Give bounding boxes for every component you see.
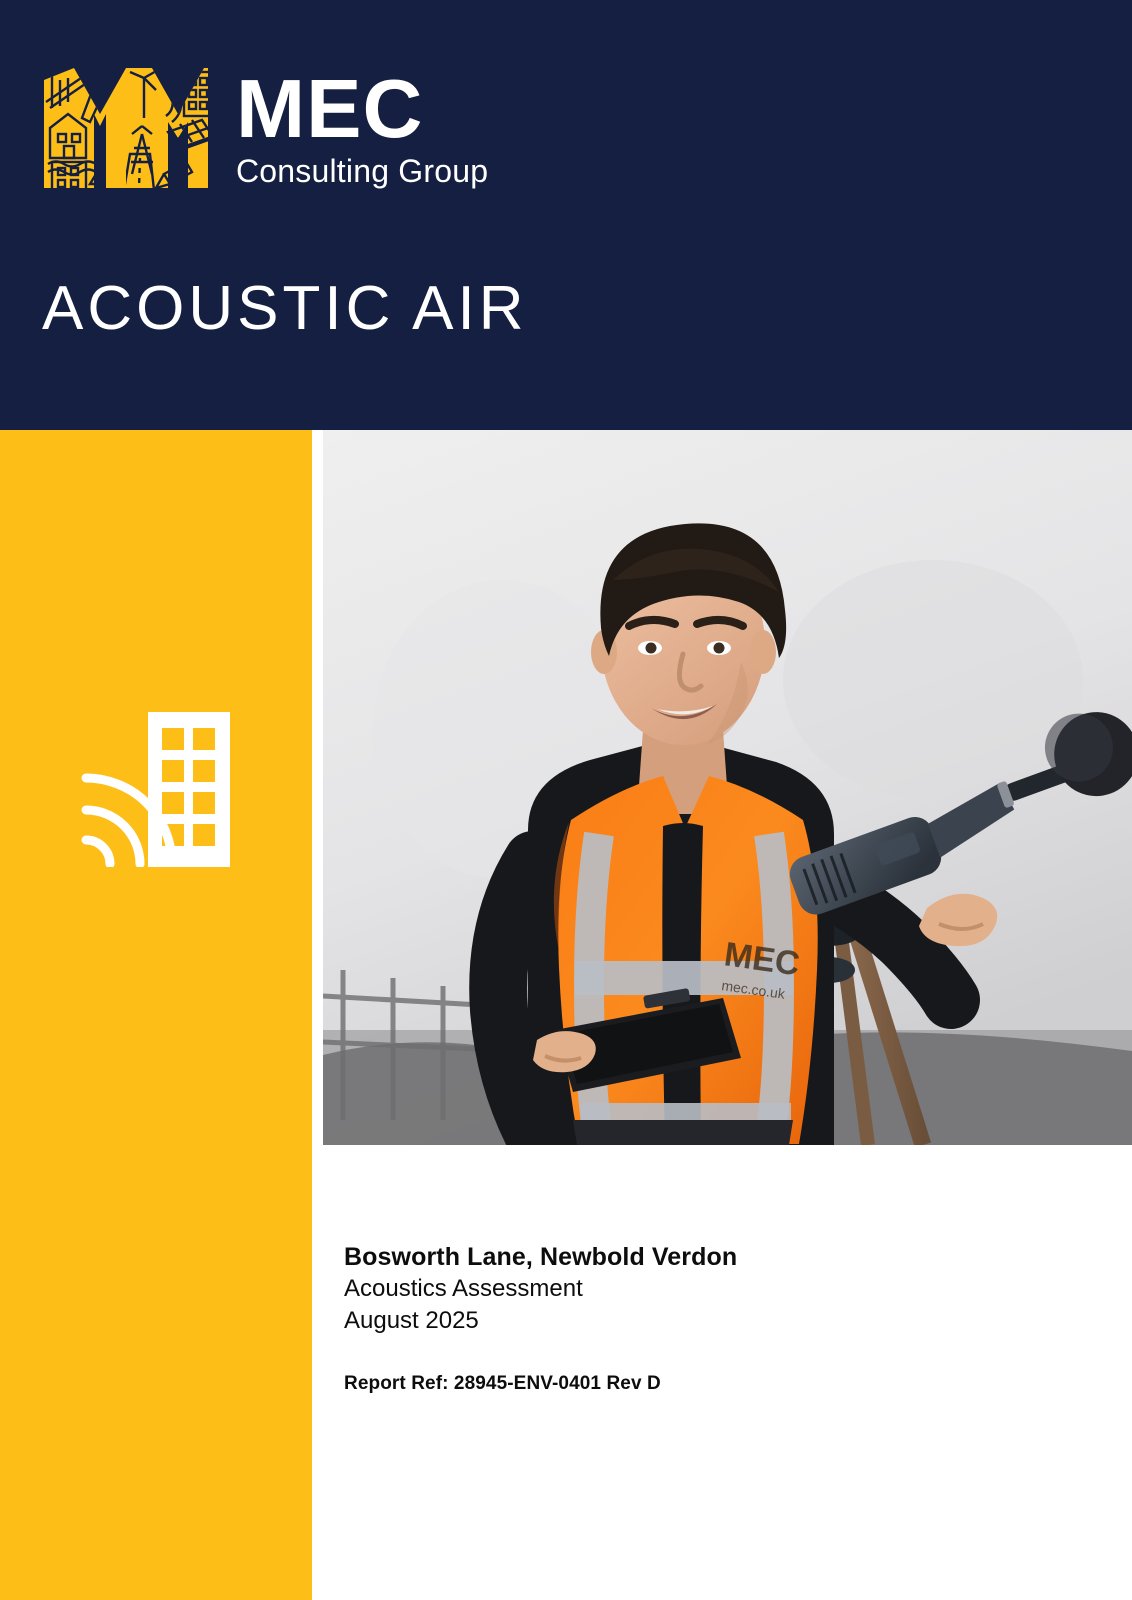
report-cover-page: MEC Consulting Group ACOUSTIC AIR: [0, 0, 1132, 1600]
cover-photograph: MEC mec.co.uk: [323, 430, 1132, 1145]
building-acoustic-waves-icon: [72, 702, 242, 867]
document-date: August 2025: [344, 1305, 1084, 1337]
document-subtitle: Acoustics Assessment: [344, 1273, 1084, 1305]
brand-lockup: MEC Consulting Group: [38, 62, 488, 192]
document-reference: Report Ref: 28945-ENV-0401 Rev D: [344, 1373, 1084, 1395]
accent-column: [0, 430, 312, 1600]
service-line-heading: ACOUSTIC AIR: [42, 278, 528, 340]
header-band: MEC Consulting Group ACOUSTIC AIR: [0, 0, 1132, 430]
mec-m-monogram-infrastructure-icon: [38, 62, 214, 192]
brand-tagline: Consulting Group: [236, 155, 488, 187]
document-details: Bosworth Lane, Newbold Verdon Acoustics …: [344, 1241, 1084, 1395]
brand-name: MEC: [236, 71, 488, 147]
photo-illustration: MEC mec.co.uk: [323, 430, 1132, 1145]
document-title: Bosworth Lane, Newbold Verdon: [344, 1241, 1084, 1273]
brand-wordmark: MEC Consulting Group: [236, 67, 488, 187]
